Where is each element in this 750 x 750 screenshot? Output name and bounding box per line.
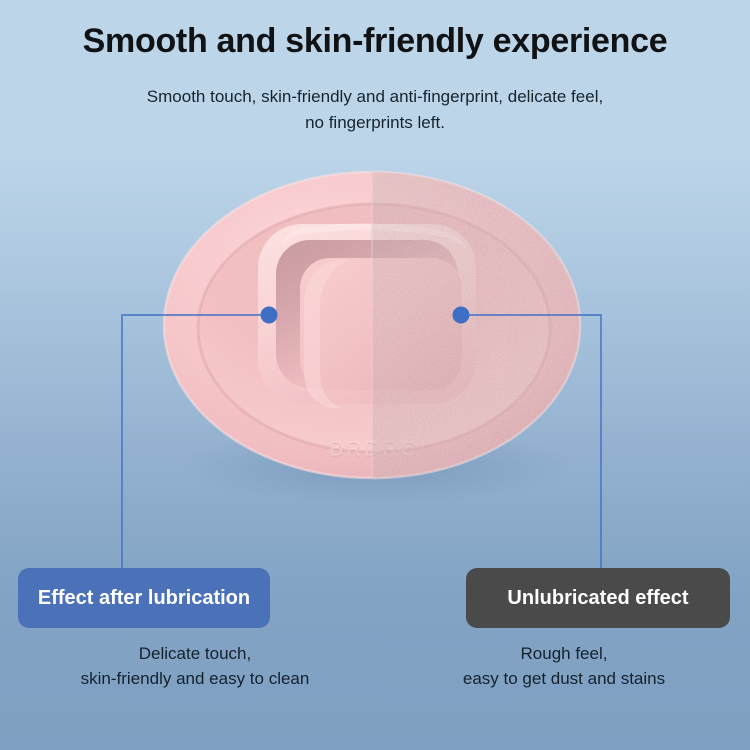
badge-unlubricated-effect: Unlubricated effect: [466, 568, 730, 628]
caption-lubricated-line-2: skin-friendly and easy to clean: [5, 666, 385, 691]
subtitle-line-2: no fingerprints left.: [0, 110, 750, 136]
product-feature-poster: Smooth and skin-friendly experience Smoo…: [0, 0, 750, 750]
caption-lubricated-line-1: Delicate touch,: [5, 641, 385, 666]
caption-unlubricated: Rough feel, easy to get dust and stains: [380, 641, 748, 691]
caption-lubricated: Delicate touch, skin-friendly and easy t…: [5, 641, 385, 691]
page-subtitle: Smooth touch, skin-friendly and anti-fin…: [0, 84, 750, 136]
product-image: BRDRC BRDRC: [0, 150, 750, 510]
badge-effect-after-lubrication: Effect after lubrication: [18, 568, 270, 628]
page-title: Smooth and skin-friendly experience: [0, 22, 750, 61]
caption-unlubricated-line-2: easy to get dust and stains: [380, 666, 748, 691]
caption-unlubricated-line-1: Rough feel,: [380, 641, 748, 666]
subtitle-line-1: Smooth touch, skin-friendly and anti-fin…: [0, 84, 750, 110]
texture-split-seam: [371, 150, 373, 510]
